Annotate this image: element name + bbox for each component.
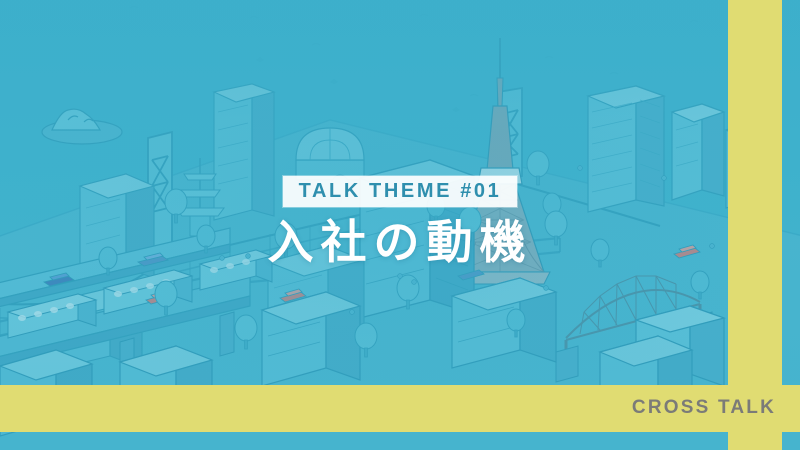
title-block: TALK THEME #01 入社の動機 [0, 176, 800, 267]
slide-canvas: TALK THEME #01 入社の動機 CROSS TALK [0, 0, 800, 450]
theme-badge: TALK THEME #01 [283, 176, 518, 207]
cross-talk-label: CROSS TALK [632, 398, 776, 417]
page-title: 入社の動機 [268, 218, 533, 267]
